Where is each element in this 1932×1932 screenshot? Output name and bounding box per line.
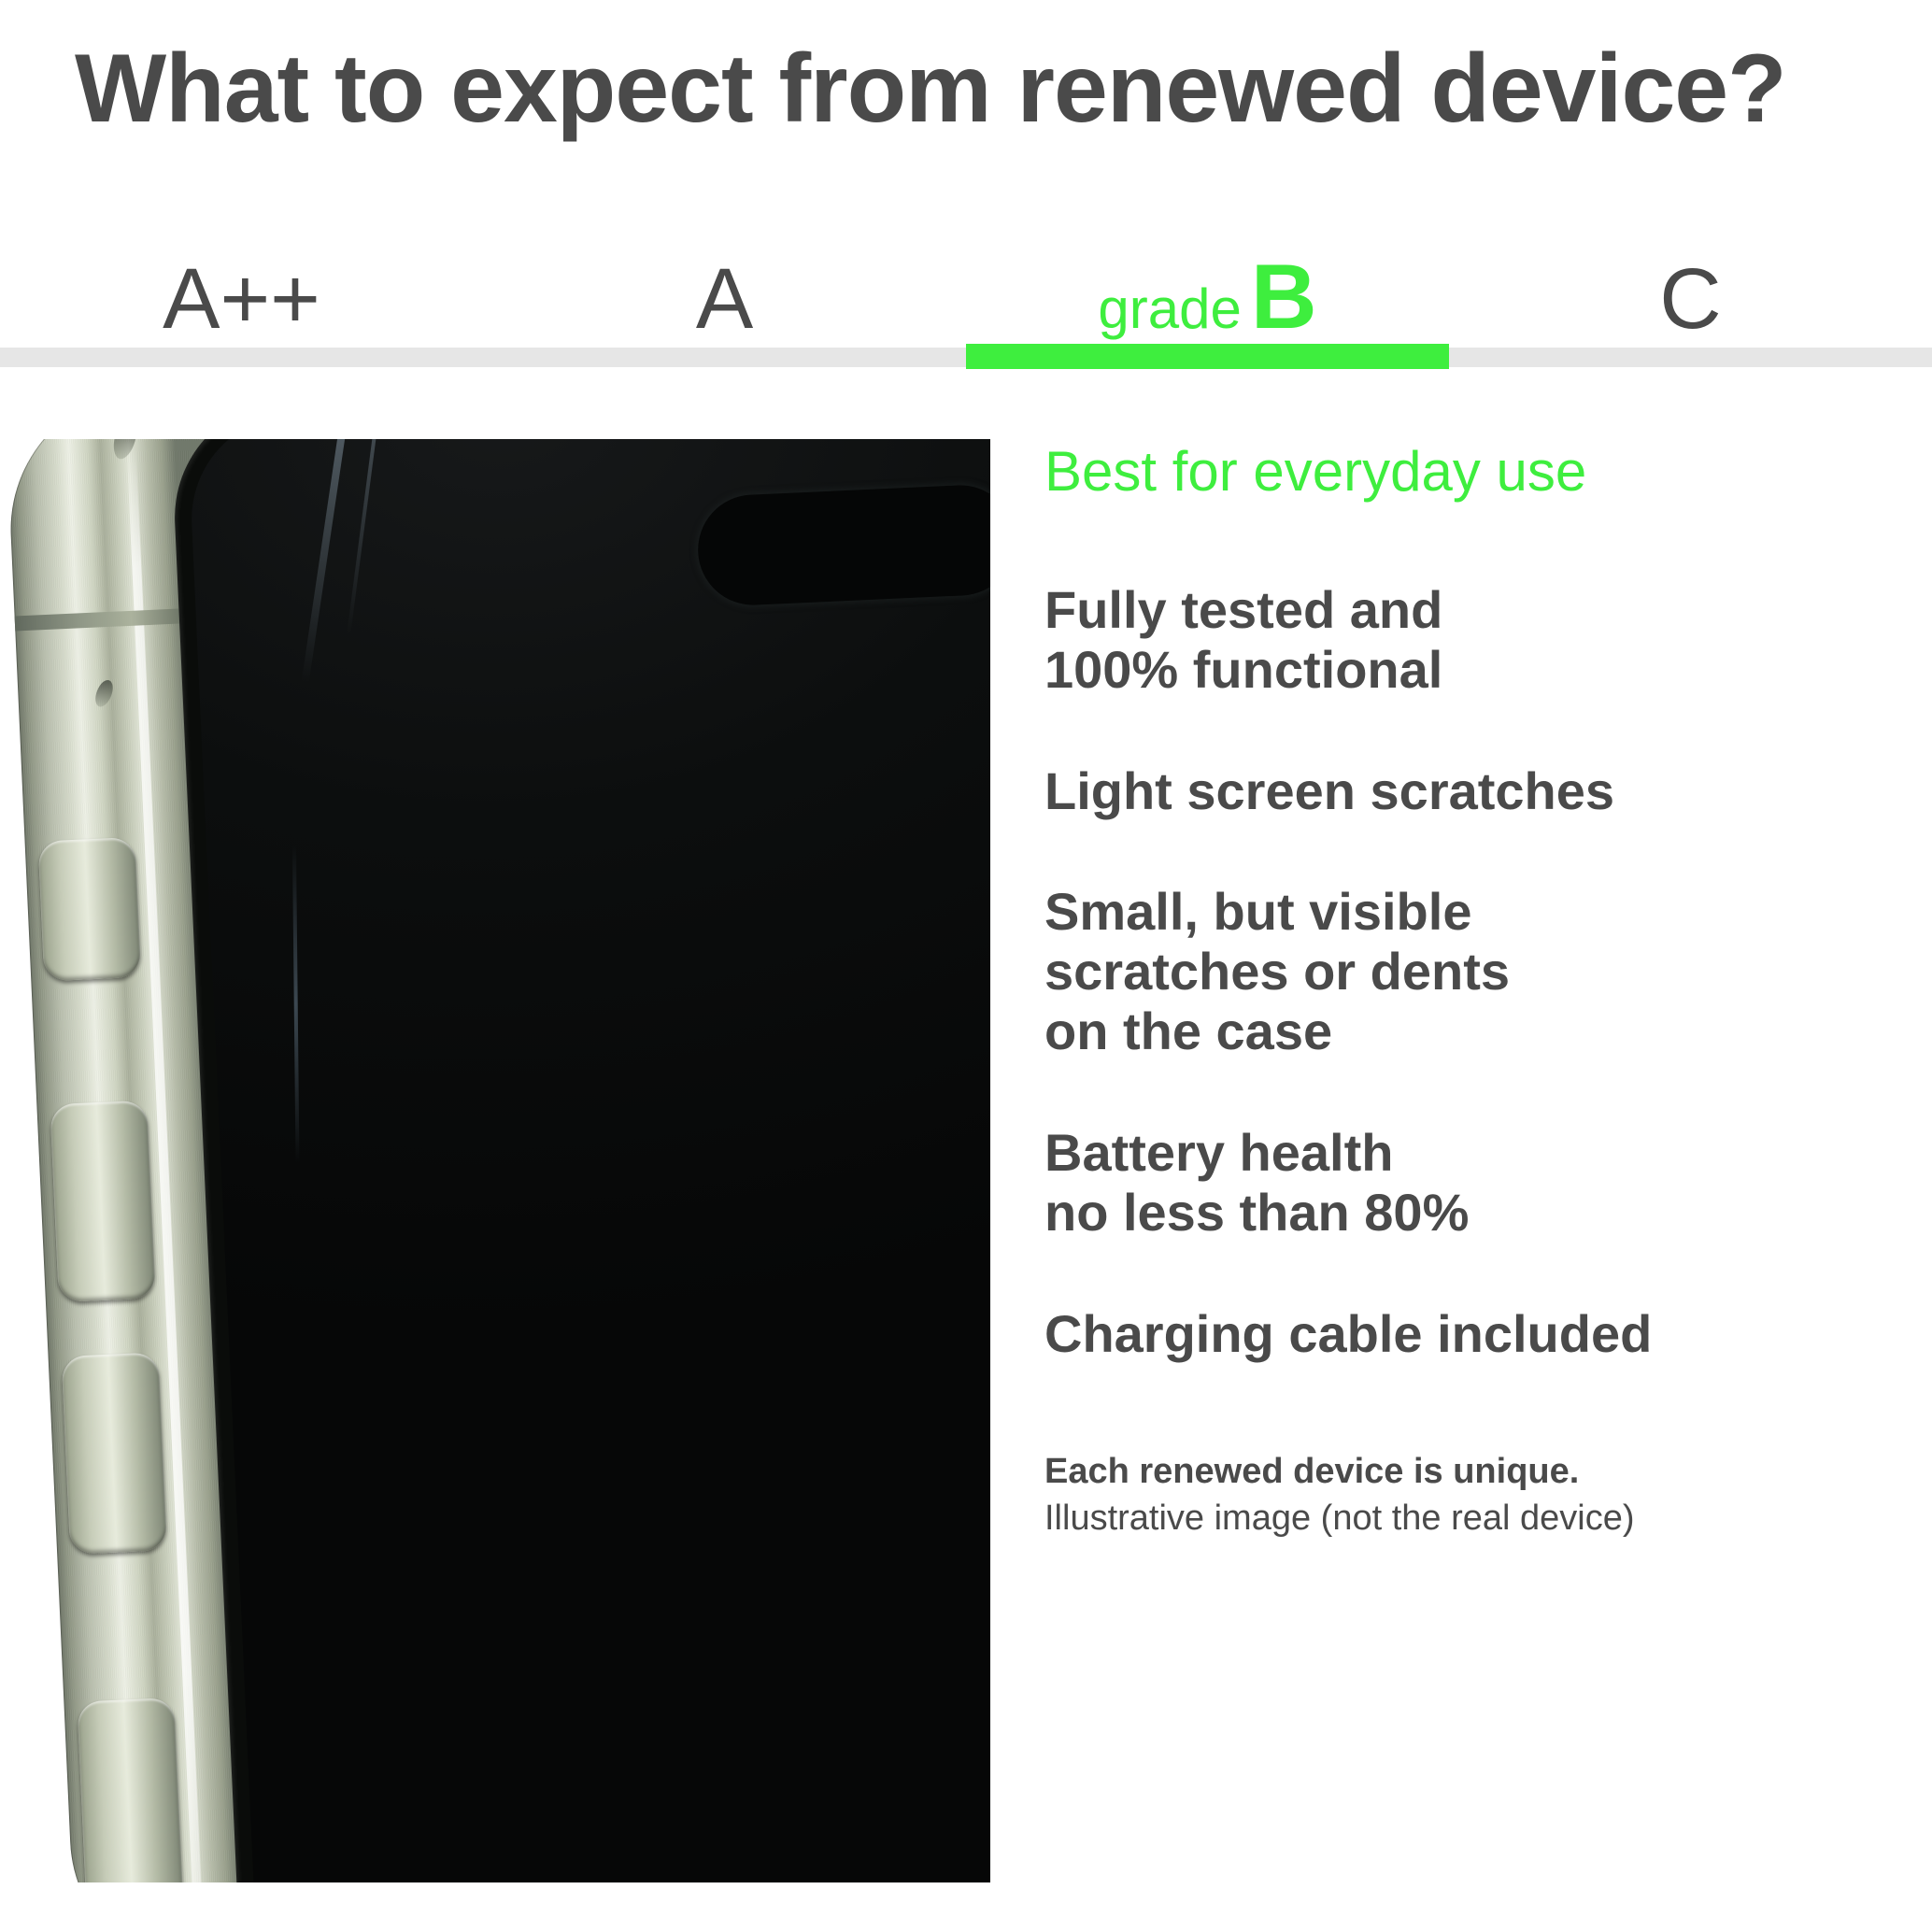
tab-grade-letter: B xyxy=(1251,250,1317,342)
feature-item: Small, but visible scratches or dents on… xyxy=(1044,882,1885,1060)
feature-item: Fully tested and 100% functional xyxy=(1044,580,1885,700)
tab-active-indicator xyxy=(966,344,1449,369)
page-title: What to expect from renewed device? xyxy=(75,36,1786,142)
grade-tabs-row: A++ A grade B C xyxy=(0,206,1932,346)
feature-item: Light screen scratches xyxy=(1044,761,1885,821)
tab-grade-a-plus-plus[interactable]: A++ xyxy=(0,206,483,346)
feature-item: Battery health no less than 80% xyxy=(1044,1123,1885,1243)
volume-down-button xyxy=(62,1352,168,1554)
screen-scratch-line xyxy=(292,845,300,1162)
tab-grade-c[interactable]: C xyxy=(1449,206,1932,346)
tab-grade-b[interactable]: grade B xyxy=(966,206,1449,346)
tab-label: C xyxy=(1659,256,1721,342)
disclaimer-secondary: Illustrative image (not the real device) xyxy=(1044,1496,1885,1541)
disclaimer-primary: Each renewed device is unique. xyxy=(1044,1449,1885,1495)
disclaimer: Each renewed device is unique. Illustrat… xyxy=(1044,1449,1885,1541)
screen-scratch-line xyxy=(347,439,380,635)
tab-grade-a[interactable]: A xyxy=(483,206,966,346)
dynamic-island xyxy=(696,483,990,607)
device-photo xyxy=(0,439,990,1882)
tab-label: grade B xyxy=(1098,250,1316,342)
panel-headline: Best for everyday use xyxy=(1044,439,1885,504)
tab-label: A xyxy=(696,256,753,342)
grade-details-panel: Best for everyday use Fully tested and 1… xyxy=(1044,439,1885,1541)
tab-label: A++ xyxy=(163,256,320,342)
device-body xyxy=(5,439,990,1882)
tab-grade-prefix: grade xyxy=(1098,281,1241,337)
volume-up-button xyxy=(50,1101,156,1302)
grade-tabbar: A++ A grade B C xyxy=(0,206,1932,372)
device-bezel xyxy=(170,439,990,1882)
feature-item: Charging cable included xyxy=(1044,1304,1885,1364)
power-button xyxy=(77,1698,184,1882)
screen-scratch-line xyxy=(302,439,353,683)
mute-switch-button xyxy=(38,837,142,982)
device-screen xyxy=(187,439,990,1882)
